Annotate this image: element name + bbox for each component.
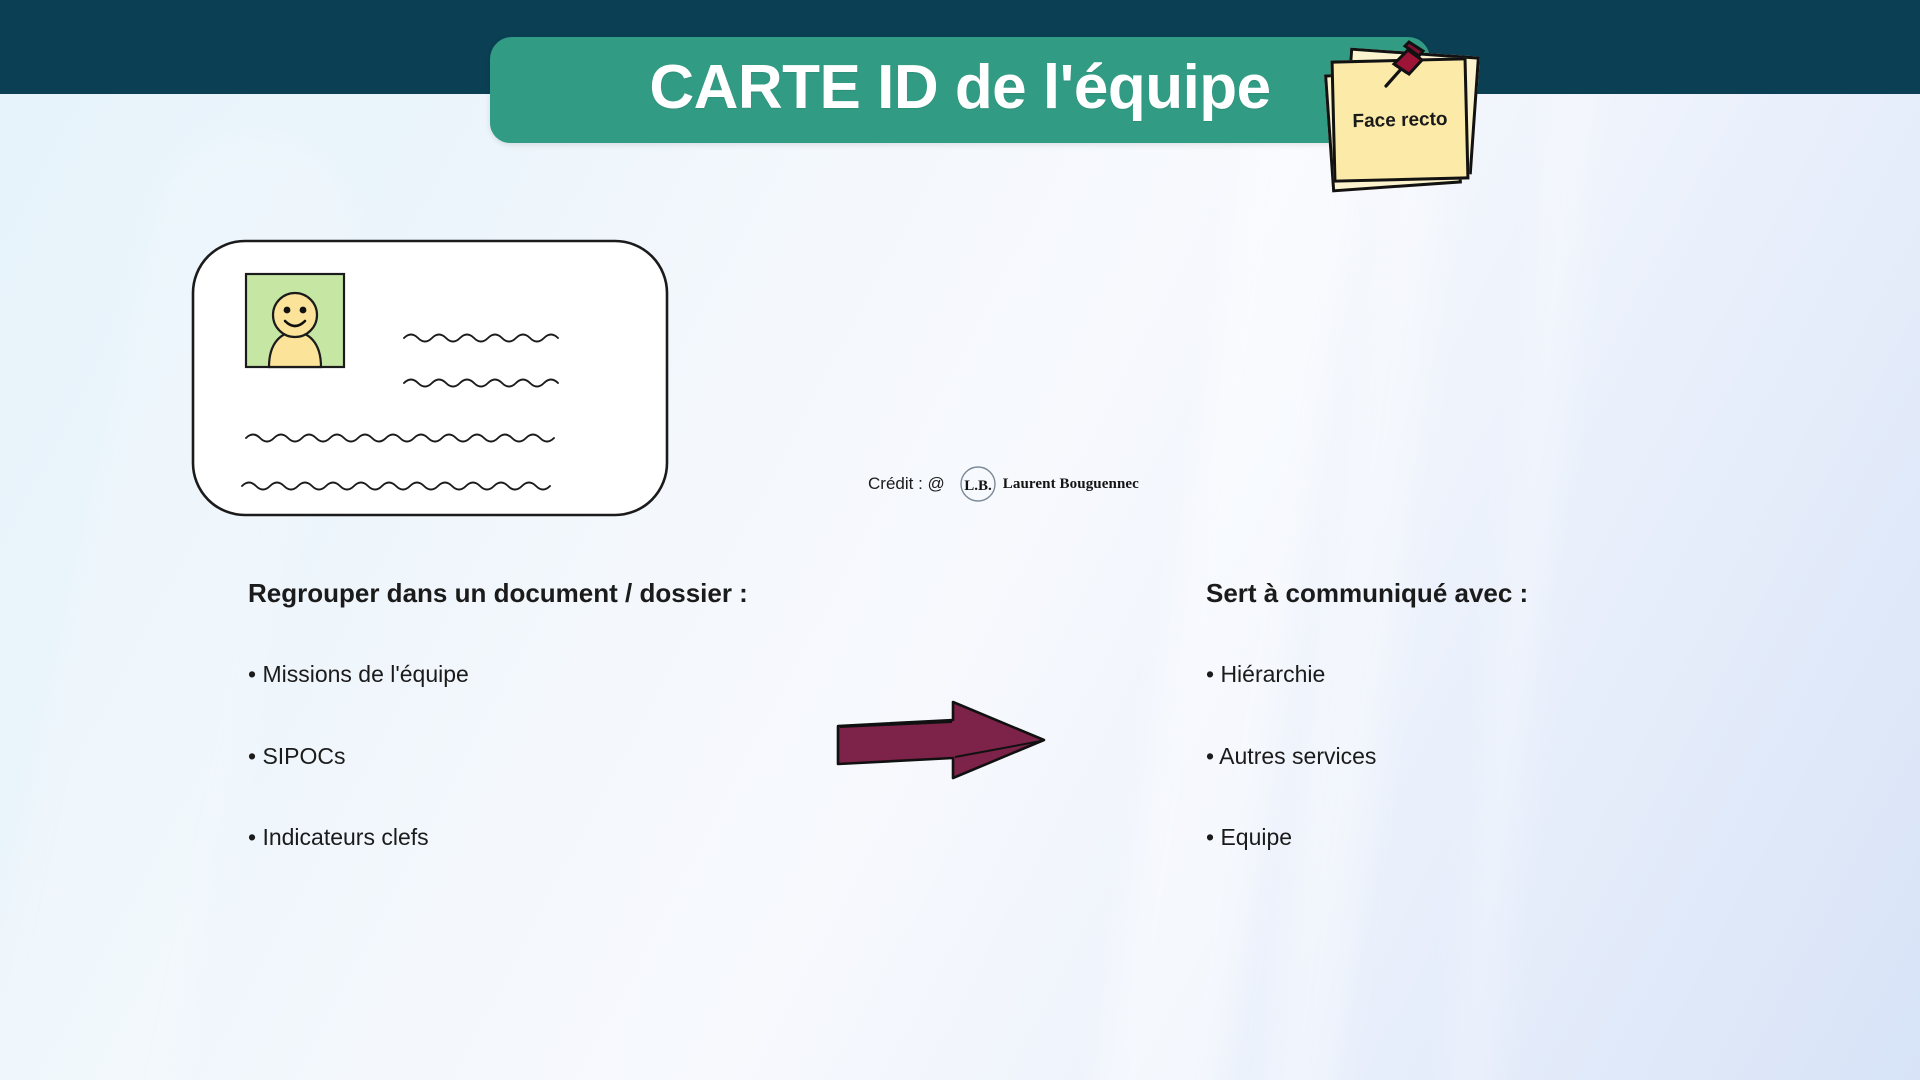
- author-logo-initials: L.B.: [964, 478, 992, 494]
- left-column: Regrouper dans un document / dossier : •…: [248, 578, 868, 852]
- right-column: Sert à communiqué avec : • Hiérarchie • …: [1206, 578, 1806, 852]
- page-title: CARTE ID de l'équipe: [649, 57, 1270, 119]
- pushpin-icon: [1378, 40, 1432, 92]
- list-item: • Equipe: [1206, 824, 1806, 852]
- list-item: • Indicateurs clefs: [248, 824, 868, 852]
- list-item: • Autres services: [1206, 743, 1806, 771]
- left-column-heading: Regrouper dans un document / dossier :: [248, 578, 868, 609]
- sticky-note-label: Face recto: [1352, 109, 1447, 130]
- author-logo-icon: L.B.: [959, 465, 997, 503]
- right-arrow-icon: [835, 700, 1047, 780]
- carte-identite-illustration: [190, 238, 670, 518]
- list-item: • Hiérarchie: [1206, 661, 1806, 689]
- credit-prefix: Crédit : @: [868, 474, 945, 494]
- credit-line: Crédit : @ L.B. Laurent Bouguennec: [868, 468, 1139, 500]
- slide-canvas: CARTE ID de l'équipe Face recto: [0, 0, 1920, 1080]
- right-column-heading: Sert à communiqué avec :: [1206, 578, 1806, 609]
- list-item: • Missions de l'équipe: [248, 661, 868, 689]
- title-banner: CARTE ID de l'équipe: [490, 37, 1430, 143]
- credit-author-name: Laurent Bouguennec: [1003, 476, 1139, 493]
- list-item: • SIPOCs: [248, 743, 868, 771]
- sticky-note: Face recto: [1322, 48, 1492, 198]
